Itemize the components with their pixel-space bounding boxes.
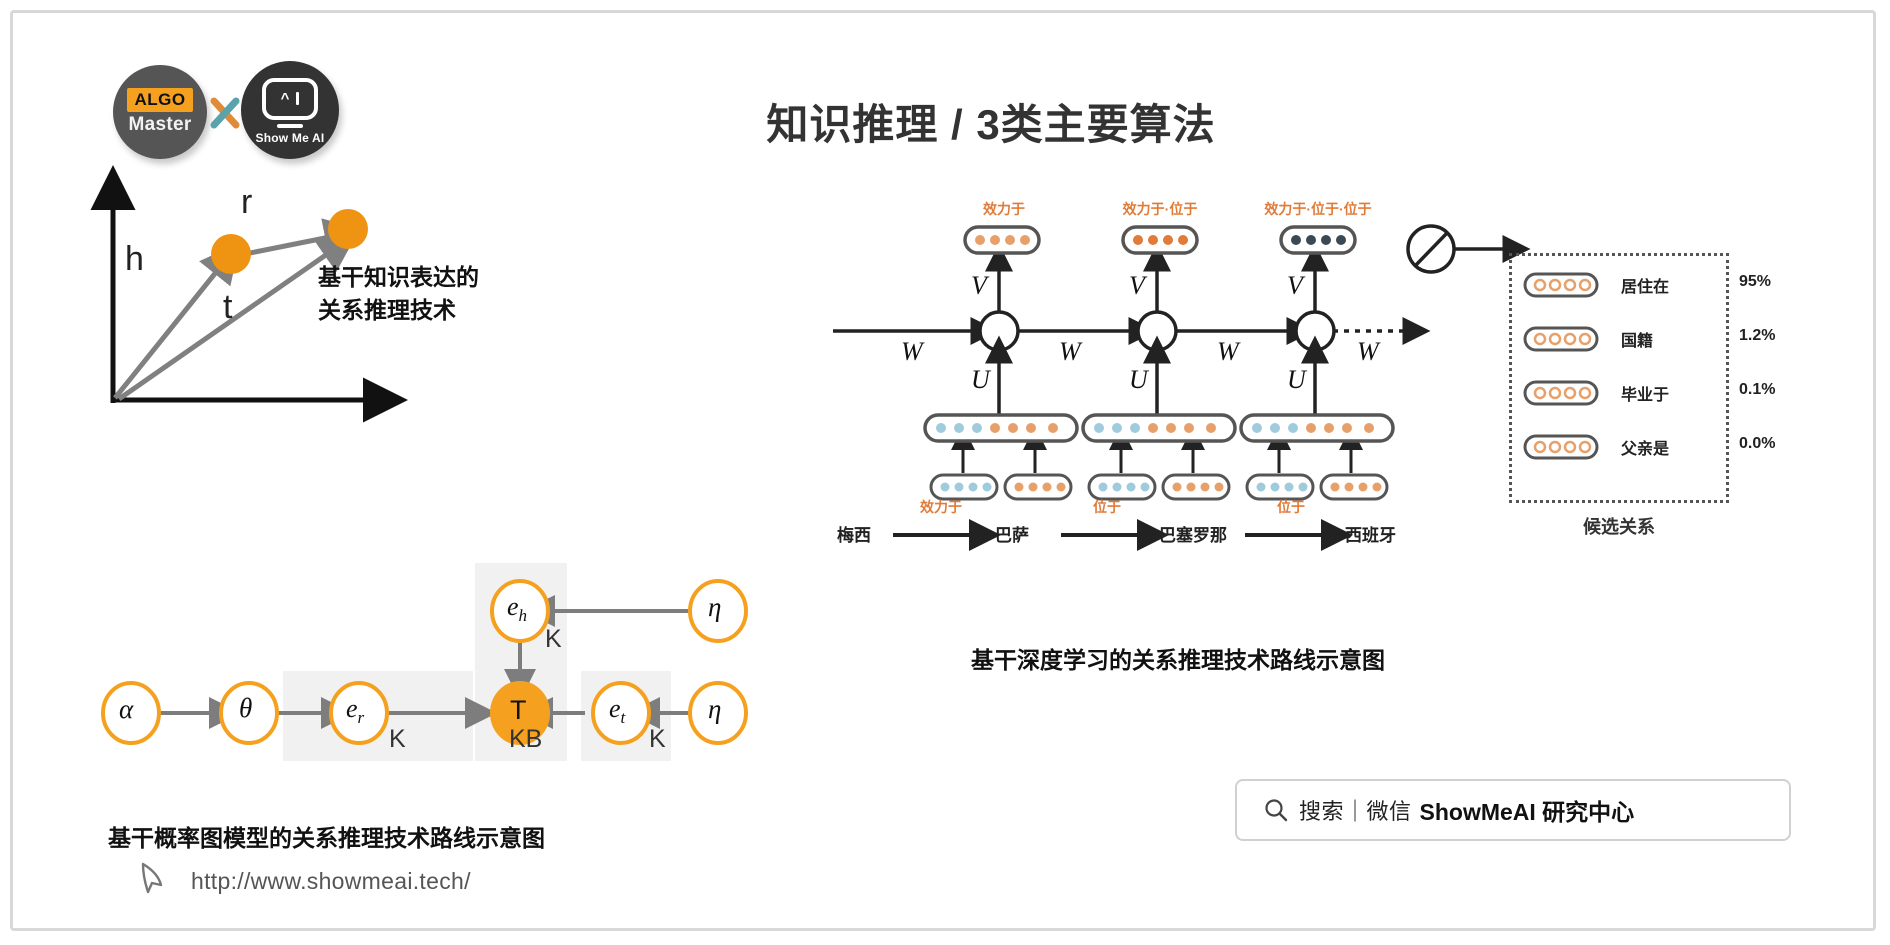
rnn-weight-u-1: U <box>971 365 990 395</box>
rnn-embedding-pairs-3 <box>1247 475 1387 499</box>
candidate-label-4: 父亲是 <box>1621 435 1669 459</box>
rnn-hidden-1 <box>980 312 1018 350</box>
rnn-hidden-2 <box>1138 312 1176 350</box>
search-pill-brand: ShowMeAI 研究中心 <box>1420 793 1635 827</box>
rnn-output-vector-3 <box>1281 227 1355 253</box>
pgm-label-er: er <box>346 694 364 728</box>
rnn-embedding-pairs-2 <box>1089 475 1229 499</box>
search-pill[interactable]: 搜索｜微信 ShowMeAI 研究中心 <box>1235 779 1791 841</box>
page-title-text: 知识推理 / 3类主要算法 <box>676 101 1215 148</box>
rnn-weight-v-2: V <box>1129 271 1145 301</box>
slide-canvas: ALGO Master ^ Show Me AI 知识推理 / 3类主要算法 <box>10 10 1876 931</box>
rnn-weight-u-3: U <box>1287 365 1306 395</box>
candidate-relations-title: 候选关系 <box>1509 513 1729 539</box>
rnn-caption: 基干深度学习的关系推理技术路线示意图 <box>971 641 1385 675</box>
vector-label-r: r <box>241 183 252 222</box>
pgm-label-eh: eh <box>507 592 527 626</box>
node-head <box>211 234 251 274</box>
rnn-weight-v-1: V <box>971 271 987 301</box>
search-pill-text: 搜索｜微信 <box>1299 794 1412 826</box>
candidate-label-2: 国籍 <box>1621 327 1653 351</box>
pgm-graph: α θ er T et η eh η K KB K K <box>93 553 743 793</box>
rnn-input-row-2 <box>1083 415 1235 441</box>
rnn-input-row-3 <box>1241 415 1393 441</box>
entity-3: 巴塞罗那 <box>1159 521 1227 546</box>
rnn-weight-u-2: U <box>1129 365 1148 395</box>
rnn-weight-w-2: W <box>1059 337 1081 367</box>
rnn-weight-v-3: V <box>1287 271 1303 301</box>
pgm-plate-label-k-er: K <box>389 725 406 754</box>
pgm-label-theta: θ <box>239 693 252 724</box>
pgm-label-eta-right: η <box>708 694 721 725</box>
pgm-caption: 基干概率图模型的关系推理技术路线示意图 <box>108 819 545 853</box>
search-icon <box>1263 797 1289 823</box>
relation-1: 效力于 <box>905 497 977 517</box>
relation-3: 位于 <box>1255 497 1327 517</box>
footer-url[interactable]: http://www.showmeai.tech/ <box>191 868 471 895</box>
rnn-hidden-3 <box>1296 312 1334 350</box>
candidate-score-3: 0.1% <box>1739 381 1775 399</box>
candidate-label-3: 毕业于 <box>1621 381 1669 405</box>
node-tail <box>328 209 368 249</box>
pgm-label-t: T <box>510 695 527 726</box>
pgm-plate-label-k-et: K <box>649 725 666 754</box>
pgm-plate-label-k-eh: K <box>545 625 562 654</box>
vector-diagram-caption: 基干知识表达的 关系推理技术 <box>318 261 479 328</box>
pgm-plate-label-kb: KB <box>509 725 542 754</box>
rnn-input-row-1 <box>925 415 1077 441</box>
entity-1: 梅西 <box>837 521 871 546</box>
candidate-score-1: 95% <box>1739 273 1771 291</box>
rnn-diagram: V V V W W W W U U U 效力于 效力于·位于 效力于·位于·位于… <box>813 213 1593 593</box>
rnn-weight-w-4: W <box>1357 337 1379 367</box>
rnn-weight-w-3: W <box>1217 337 1239 367</box>
vector-caption-line1: 基干知识表达的 <box>318 261 479 294</box>
rnn-weight-w-1: W <box>901 337 923 367</box>
pgm-label-eta-top: η <box>708 592 721 623</box>
vector-caption-line2: 关系推理技术 <box>318 294 479 327</box>
rnn-output-label-2: 效力于·位于 <box>1105 199 1215 219</box>
vector-label-h: h <box>125 240 144 279</box>
entity-4: 西班牙 <box>1345 521 1396 546</box>
entity-2: 巴萨 <box>995 521 1029 546</box>
page-title: 知识推理 / 3类主要算法 <box>13 91 1879 152</box>
rnn-embedding-pairs-1 <box>931 475 1071 499</box>
rnn-output-label-3: 效力于·位于·位于 <box>1243 199 1393 219</box>
vector-label-t: t <box>223 288 232 327</box>
pgm-label-alpha: α <box>119 694 133 725</box>
relation-2: 位于 <box>1071 497 1143 517</box>
rnn-output-vector-1 <box>965 227 1039 253</box>
pgm-label-et: et <box>609 694 625 728</box>
rnn-output-label-1: 效力于 <box>969 199 1039 219</box>
candidate-score-2: 1.2% <box>1739 327 1775 345</box>
cursor-icon <box>137 861 171 897</box>
candidate-label-1: 居住在 <box>1621 273 1669 297</box>
candidate-score-4: 0.0% <box>1739 435 1775 453</box>
rnn-output-vector-2 <box>1123 227 1197 253</box>
